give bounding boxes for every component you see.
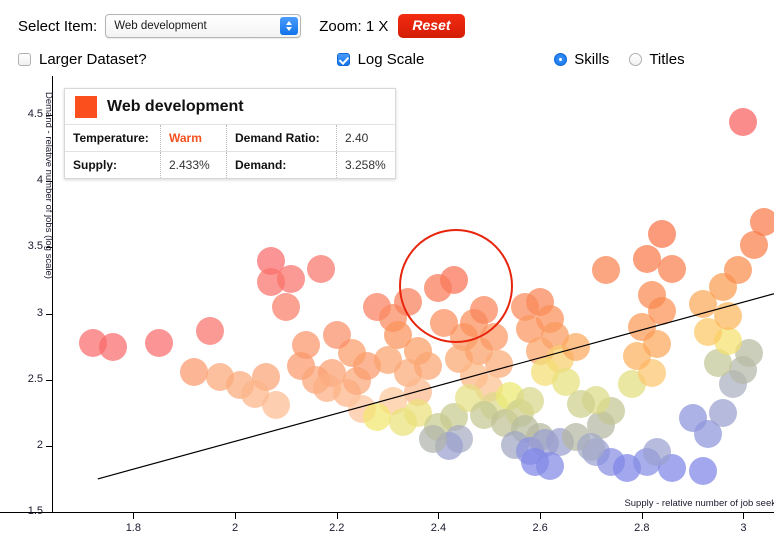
- data-point[interactable]: [562, 333, 590, 361]
- supply-label: Supply:: [65, 152, 161, 178]
- data-point[interactable]: [180, 358, 208, 386]
- data-point[interactable]: [709, 399, 737, 427]
- data-point[interactable]: [307, 255, 335, 283]
- color-swatch-icon: [75, 96, 97, 118]
- checkbox-icon-larger-dataset[interactable]: [18, 53, 31, 66]
- data-point[interactable]: [480, 323, 508, 351]
- x-axis-line: [0, 512, 774, 513]
- y-tick-label: 2: [37, 439, 43, 451]
- data-point[interactable]: [424, 274, 452, 302]
- data-point[interactable]: [516, 387, 544, 415]
- toolbar-secondary: Larger Dataset? Log Scale Skills Titles: [18, 48, 758, 70]
- info-panel-title: Web development: [107, 98, 244, 116]
- item-select[interactable]: Web development: [105, 14, 301, 38]
- data-point[interactable]: [689, 457, 717, 485]
- data-point[interactable]: [262, 391, 290, 419]
- x-tick-label: 2.6: [526, 522, 554, 534]
- larger-dataset-label: Larger Dataset?: [39, 51, 147, 68]
- data-point[interactable]: [638, 281, 666, 309]
- x-tick-label: 1.8: [119, 522, 147, 534]
- demand-ratio-label: Demand Ratio:: [227, 125, 337, 151]
- item-select-value: Web development: [106, 20, 274, 32]
- log-scale-label: Log Scale: [358, 51, 425, 68]
- info-panel-header: Web development: [65, 89, 395, 125]
- radio-skills[interactable]: Skills: [554, 51, 609, 68]
- data-point[interactable]: [292, 331, 320, 359]
- data-point[interactable]: [729, 108, 757, 136]
- data-point[interactable]: [750, 208, 774, 236]
- x-tick: [438, 513, 439, 519]
- item-info-panel: Web development Temperature: Warm Demand…: [64, 88, 396, 179]
- data-point[interactable]: [633, 245, 661, 273]
- demand-label: Demand:: [227, 152, 337, 178]
- demand-value: 3.258%: [337, 152, 395, 178]
- radio-skills-label: Skills: [574, 51, 609, 68]
- radio-titles[interactable]: Titles: [629, 51, 684, 68]
- larger-dataset-checkbox[interactable]: Larger Dataset?: [18, 51, 147, 68]
- temperature-value: Warm: [161, 125, 227, 151]
- data-point[interactable]: [196, 317, 224, 345]
- x-tick: [743, 513, 744, 519]
- data-point[interactable]: [363, 403, 391, 431]
- x-tick-label: 2.8: [628, 522, 656, 534]
- x-tick-label: 2.4: [424, 522, 452, 534]
- scatter-plot: 1.522.533.544.5 1.822.22.42.62.83 Demand…: [0, 0, 774, 546]
- y-tick-label: 4.5: [28, 108, 43, 120]
- y-tick: [46, 446, 52, 447]
- toolbar-primary: Select Item: Web development Zoom: 1 X R…: [18, 14, 465, 38]
- data-point[interactable]: [714, 302, 742, 330]
- data-point[interactable]: [394, 288, 422, 316]
- data-point[interactable]: [567, 390, 595, 418]
- zoom-level-text: Zoom: 1 X: [319, 18, 388, 35]
- info-row: Temperature: Warm Demand Ratio: 2.40: [65, 125, 395, 152]
- y-tick-label: 3: [37, 307, 43, 319]
- radio-icon-titles[interactable]: [629, 53, 642, 66]
- data-point[interactable]: [145, 329, 173, 357]
- log-scale-checkbox[interactable]: Log Scale: [337, 51, 425, 68]
- data-point[interactable]: [414, 352, 442, 380]
- data-point[interactable]: [272, 293, 300, 321]
- y-axis-label: Demand - relative number of jobs (log sc…: [43, 92, 54, 302]
- y-tick: [46, 314, 52, 315]
- data-point[interactable]: [592, 256, 620, 284]
- y-tick: [46, 380, 52, 381]
- checkbox-icon-log-scale[interactable]: [337, 53, 350, 66]
- chevron-updown-icon[interactable]: [280, 17, 298, 35]
- data-point[interactable]: [724, 256, 752, 284]
- x-tick: [642, 513, 643, 519]
- x-tick: [337, 513, 338, 519]
- demand-ratio-value: 2.40: [337, 125, 395, 151]
- y-tick-label: 2.5: [28, 373, 43, 385]
- radio-titles-label: Titles: [649, 51, 684, 68]
- info-row: Supply: 2.433% Demand: 3.258%: [65, 152, 395, 178]
- temperature-label: Temperature:: [65, 125, 161, 151]
- radio-icon-skills[interactable]: [554, 53, 567, 66]
- x-tick-label: 3: [729, 522, 757, 534]
- data-point[interactable]: [470, 296, 498, 324]
- x-tick: [540, 513, 541, 519]
- x-axis-label: Supply - relative number of job seek: [624, 498, 774, 509]
- data-point[interactable]: [648, 220, 676, 248]
- select-item-label: Select Item:: [18, 18, 97, 35]
- x-tick-label: 2.2: [323, 522, 351, 534]
- data-point[interactable]: [658, 255, 686, 283]
- data-point[interactable]: [323, 321, 351, 349]
- app-root: 1.522.533.544.5 1.822.22.42.62.83 Demand…: [0, 0, 774, 546]
- x-tick-label: 2: [221, 522, 249, 534]
- reset-button[interactable]: Reset: [398, 14, 464, 38]
- data-point[interactable]: [577, 433, 605, 461]
- y-tick-label: 1.5: [28, 505, 43, 517]
- x-tick: [235, 513, 236, 519]
- data-point[interactable]: [277, 265, 305, 293]
- supply-value: 2.433%: [161, 152, 227, 178]
- x-tick: [133, 513, 134, 519]
- data-point[interactable]: [536, 452, 564, 480]
- data-point[interactable]: [99, 333, 127, 361]
- y-tick: [46, 512, 52, 513]
- y-tick-label: 3.5: [28, 240, 43, 252]
